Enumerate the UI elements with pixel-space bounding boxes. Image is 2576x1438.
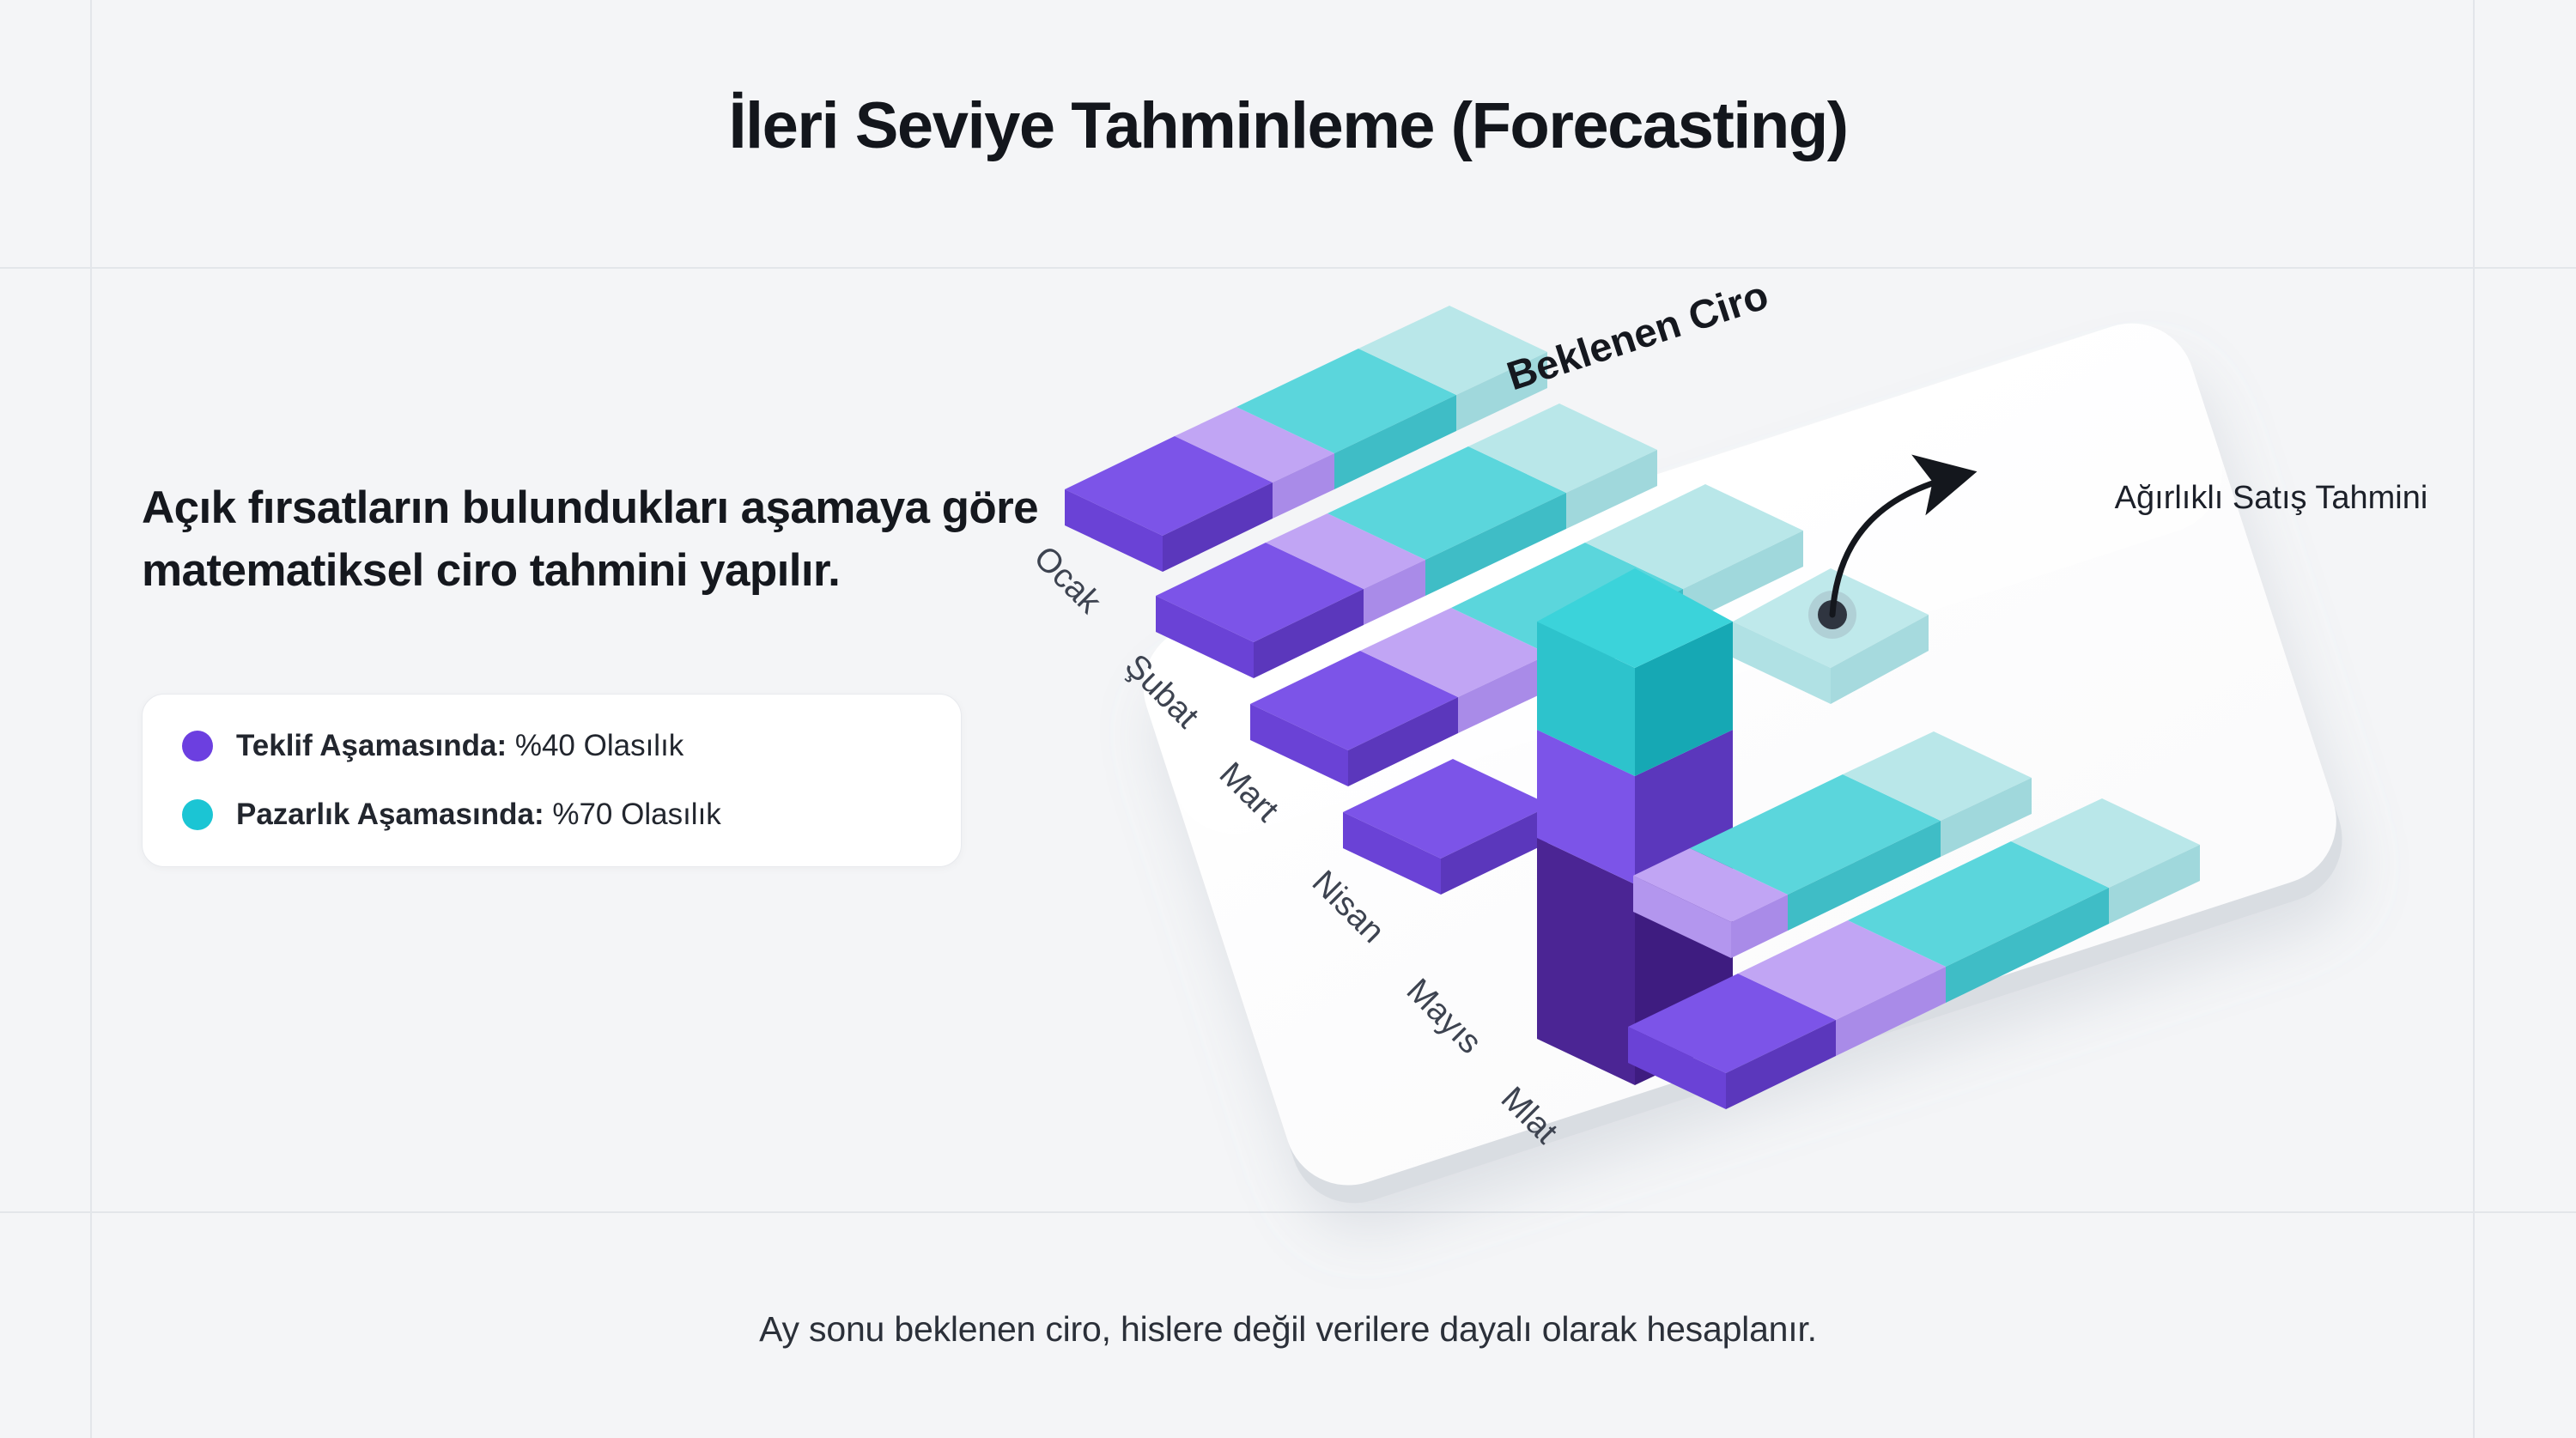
legend-label-pazarlik-rest: %70 Olasılık [544,798,721,831]
legend-dot-cyan-icon [182,799,213,830]
footer-caption: Ay sonu beklenen ciro, hislere değil ver… [0,1309,2576,1350]
legend-card: Teklif Aşamasında: %40 Olasılık Pazarlık… [142,694,962,867]
left-content-column: Açık fırsatların bulundukları aşamaya gö… [142,476,1052,867]
isometric-chart-svg: Beklenen Ciro Ocak Şubat Mart Nisan Mayı… [970,283,2516,1228]
legend-dot-purple-icon [182,731,213,761]
grid-line-horizontal-top [0,267,2576,269]
legend-label-pazarlik-bold: Pazarlık Aşamasında: [236,798,544,831]
chart-title-beklenen-ciro: Beklenen Ciro [1501,271,1773,398]
forecast-illustration: Beklenen Ciro Ocak Şubat Mart Nisan Mayı… [970,283,2516,1228]
legend-item-pazarlik: Pazarlık Aşamasında: %70 Olasılık [182,798,921,832]
axis-label-ocak: Ocak [1027,539,1109,621]
lead-paragraph: Açık fırsatların bulundukları aşamaya gö… [142,476,1052,602]
legend-label-pazarlik: Pazarlık Aşamasında: %70 Olasılık [236,798,721,832]
legend-label-teklif-rest: %40 Olasılık [507,729,683,762]
annotation-label-agirlikli-satis-tahmini: Ağırlıklı Satış Tahmini [2087,476,2456,520]
grid-line-vertical-left [90,0,92,1438]
legend-label-teklif-bold: Teklif Aşamasında: [236,729,507,762]
legend-label-teklif: Teklif Aşamasında: %40 Olasılık [236,729,683,763]
page-title: İleri Seviye Tahminleme (Forecasting) [0,90,2576,162]
legend-item-teklif: Teklif Aşamasında: %40 Olasılık [182,729,921,763]
